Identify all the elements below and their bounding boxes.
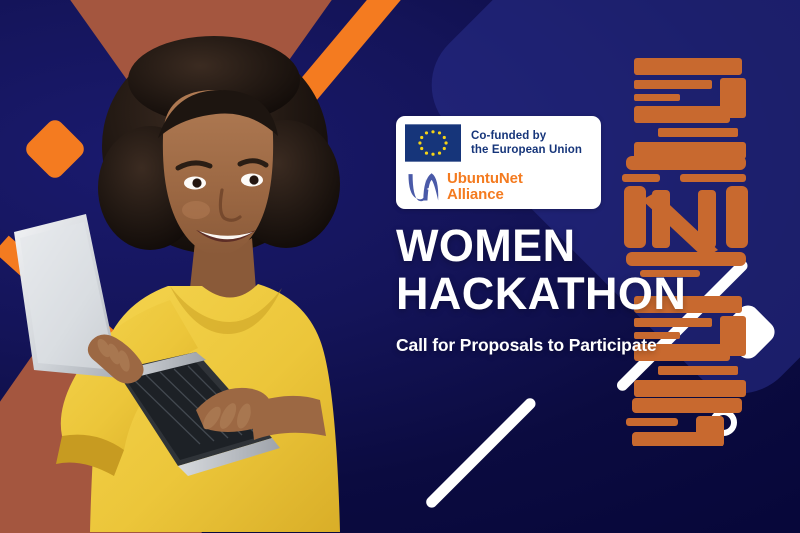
ubuntunet-alliance-mark-icon	[405, 170, 440, 203]
white-circle-outline-icon-right	[710, 409, 737, 436]
page-title: WOMEN HACKATHON	[396, 222, 791, 317]
headline-line-2: HACKATHON	[396, 270, 791, 318]
white-diagonal-stripe-bottom	[424, 396, 538, 510]
poster-canvas: Co-funded by the European Union UbuntuNe…	[0, 0, 800, 533]
alliance-line-1: UbuntuNet	[447, 171, 523, 187]
ubuntunet-alliance-wordmark: UbuntuNet Alliance	[447, 171, 523, 202]
eu-funding-label: Co-funded by the European Union	[471, 129, 582, 157]
ubuntunet-alliance-row: UbuntuNet Alliance	[405, 170, 592, 203]
funder-logo-card: Co-funded by the European Union UbuntuNe…	[396, 116, 601, 209]
headline-line-1: WOMEN	[396, 220, 575, 271]
headline-subtitle: Call for Proposals to Participate	[396, 335, 791, 356]
photo-woman-with-laptop	[0, 18, 400, 533]
eu-funding-row: Co-funded by the European Union	[405, 124, 592, 162]
alliance-line-2: Alliance	[447, 187, 523, 203]
headline-block: WOMEN HACKATHON Call for Proposals to Pa…	[396, 222, 791, 356]
european-union-flag-icon	[405, 124, 461, 162]
